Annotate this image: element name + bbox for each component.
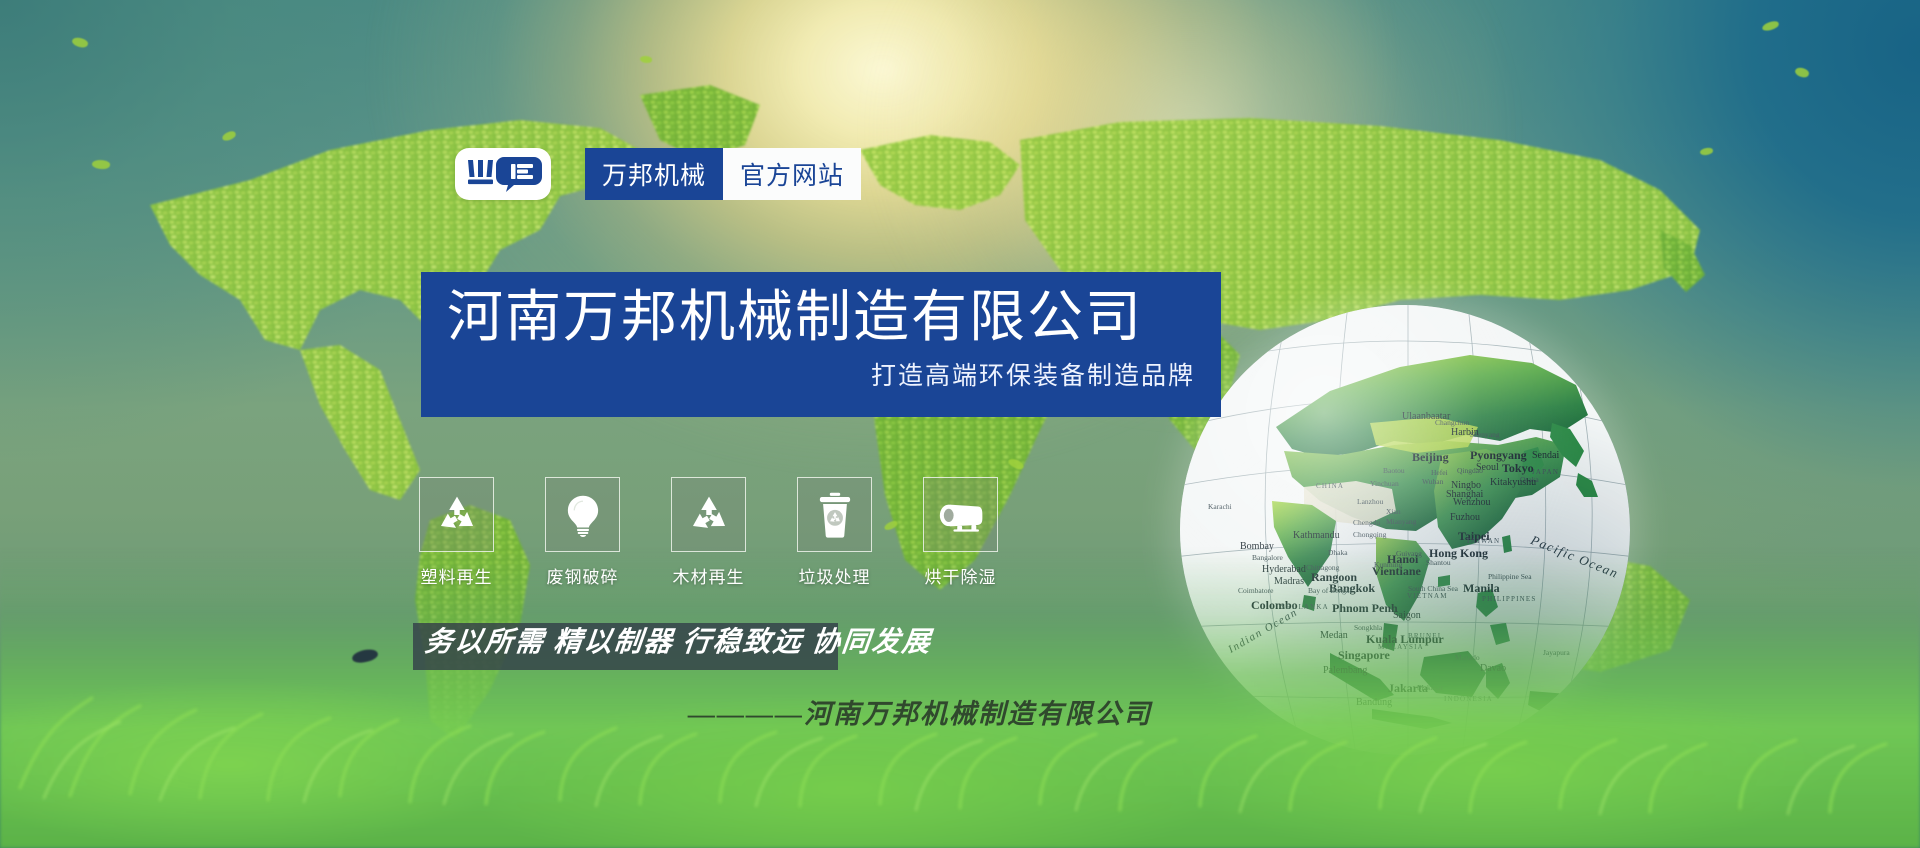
service-label: 垃圾处理 <box>799 563 871 588</box>
service-item-waste-treatment[interactable]: 垃圾处理 <box>797 477 872 588</box>
recycle-icon <box>435 493 479 537</box>
rotary-dryer-drum-icon <box>936 498 986 532</box>
service-icon-frame <box>545 477 620 552</box>
service-item-wood-recycling[interactable]: 木材再生 <box>671 477 746 588</box>
service-icon-frame <box>671 477 746 552</box>
hero-title-banner: 河南万邦机械制造有限公司 打造高端环保装备制造品牌 <box>421 272 1221 417</box>
company-name: 河南万邦机械制造有限公司 <box>447 286 1195 350</box>
service-label: 木材再生 <box>673 563 745 588</box>
service-icon-frame <box>797 477 872 552</box>
company-logo[interactable] <box>455 148 551 200</box>
slogan-credit: ————河南万邦机械制造有限公司 <box>688 692 1152 731</box>
brand-header: 万邦机械 官方网站 <box>455 148 861 200</box>
brand-tabs: 万邦机械 官方网站 <box>585 148 861 200</box>
tab-official-website[interactable]: 官方网站 <box>723 148 861 200</box>
service-label: 塑料再生 <box>421 563 493 588</box>
service-label: 废钢破碎 <box>547 563 619 588</box>
b-speech-bubble-glyph <box>496 157 542 192</box>
lightbulb-icon <box>562 493 604 537</box>
service-icon-frame <box>419 477 494 552</box>
slogan-text: 务以所需 精以制器 行稳致远 协同发展 <box>423 620 837 660</box>
recycle-icon <box>687 493 731 537</box>
tab-wanbang-machinery[interactable]: 万邦机械 <box>585 148 723 200</box>
service-item-plastic-recycling[interactable]: 塑料再生 <box>419 477 494 588</box>
trash-bin-recycle-icon <box>818 492 852 538</box>
service-item-drying-dehumidify[interactable]: 烘干除湿 <box>923 477 998 588</box>
service-item-scrap-steel-crushing[interactable]: 废钢破碎 <box>545 477 620 588</box>
service-label: 烘干除湿 <box>925 563 997 588</box>
w-bars-glyph <box>468 160 493 184</box>
service-icon-row: 塑料再生 废钢破碎 <box>419 477 998 588</box>
company-tagline: 打造高端环保装备制造品牌 <box>447 356 1195 392</box>
wb-logo-icon <box>464 155 542 193</box>
service-icon-frame <box>923 477 998 552</box>
hero-banner: Beijing Hong Kong Shanghai Manila Bangko… <box>0 0 1920 848</box>
